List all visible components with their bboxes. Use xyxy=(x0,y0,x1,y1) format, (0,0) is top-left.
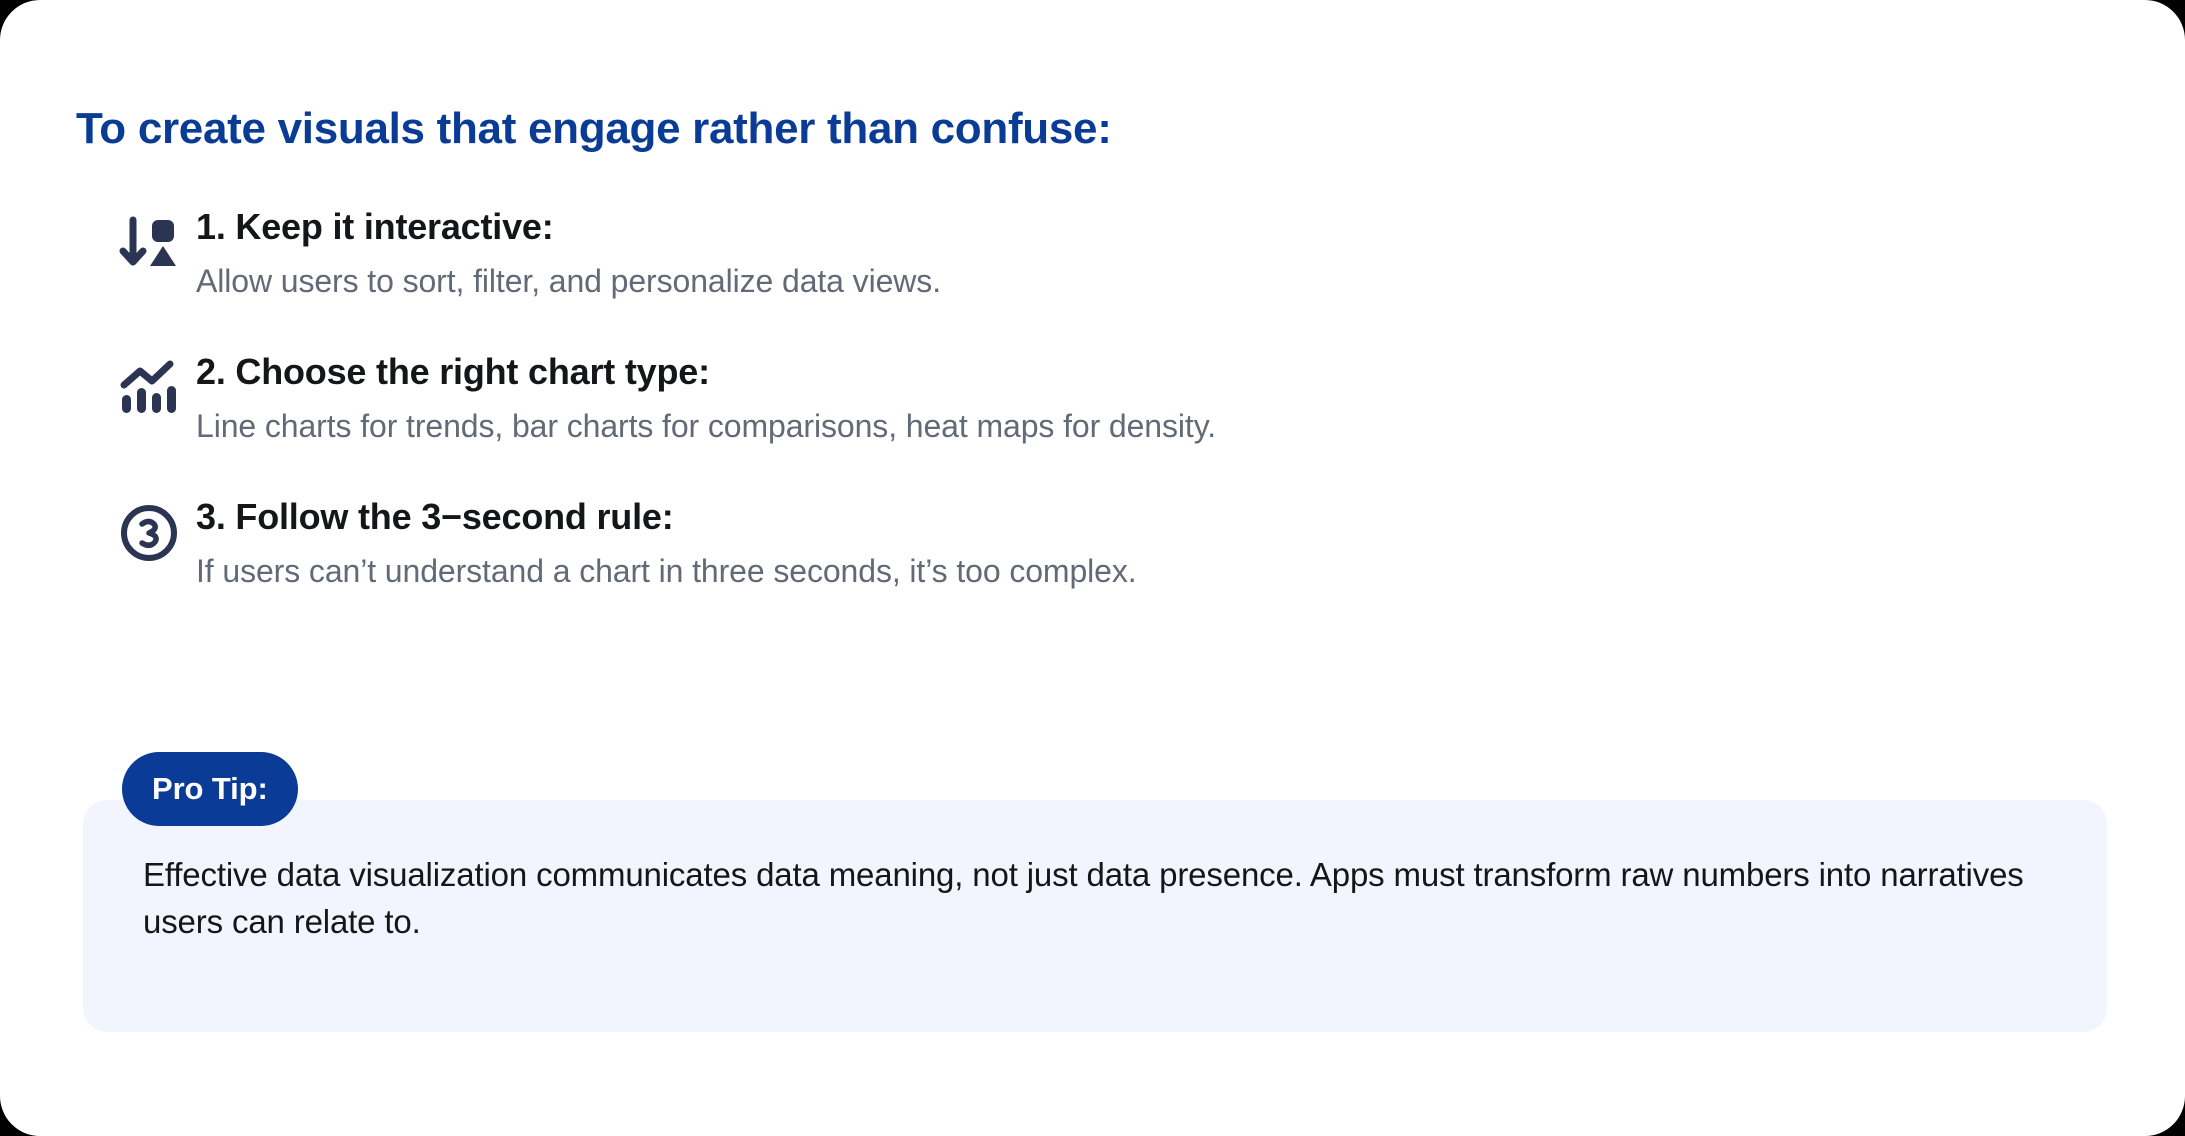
list-item-title: 3. Follow the 3−second rule: xyxy=(196,496,2078,538)
list-item-description: Allow users to sort, filter, and persona… xyxy=(196,262,2078,300)
list-item-text: 2. Choose the right chart type: Line cha… xyxy=(196,351,2078,446)
list-item: 3. Follow the 3−second rule: If users ca… xyxy=(118,496,2078,591)
content-card: To create visuals that engage rather tha… xyxy=(0,0,2185,1136)
list-item-title: 1. Keep it interactive: xyxy=(196,206,2078,248)
list-item-title: 2. Choose the right chart type: xyxy=(196,351,2078,393)
pro-tip-badge: Pro Tip: xyxy=(122,752,298,826)
list-item: 2. Choose the right chart type: Line cha… xyxy=(118,351,2078,446)
list-item-text: 1. Keep it interactive: Allow users to s… xyxy=(196,206,2078,301)
list-item: 1. Keep it interactive: Allow users to s… xyxy=(118,206,2078,301)
pro-tip-callout: Effective data visualization communicate… xyxy=(83,800,2107,1032)
tips-list: 1. Keep it interactive: Allow users to s… xyxy=(118,206,2078,641)
list-item-description: If users can’t understand a chart in thr… xyxy=(196,552,2078,590)
circled-three-icon xyxy=(118,496,196,568)
bar-chart-trend-icon xyxy=(118,351,196,423)
page-title: To create visuals that engage rather tha… xyxy=(76,104,1112,154)
pro-tip-text: Effective data visualization communicate… xyxy=(143,852,2033,946)
list-item-text: 3. Follow the 3−second rule: If users ca… xyxy=(196,496,2078,591)
list-item-description: Line charts for trends, bar charts for c… xyxy=(196,407,2078,445)
sort-filter-icon xyxy=(118,206,196,278)
